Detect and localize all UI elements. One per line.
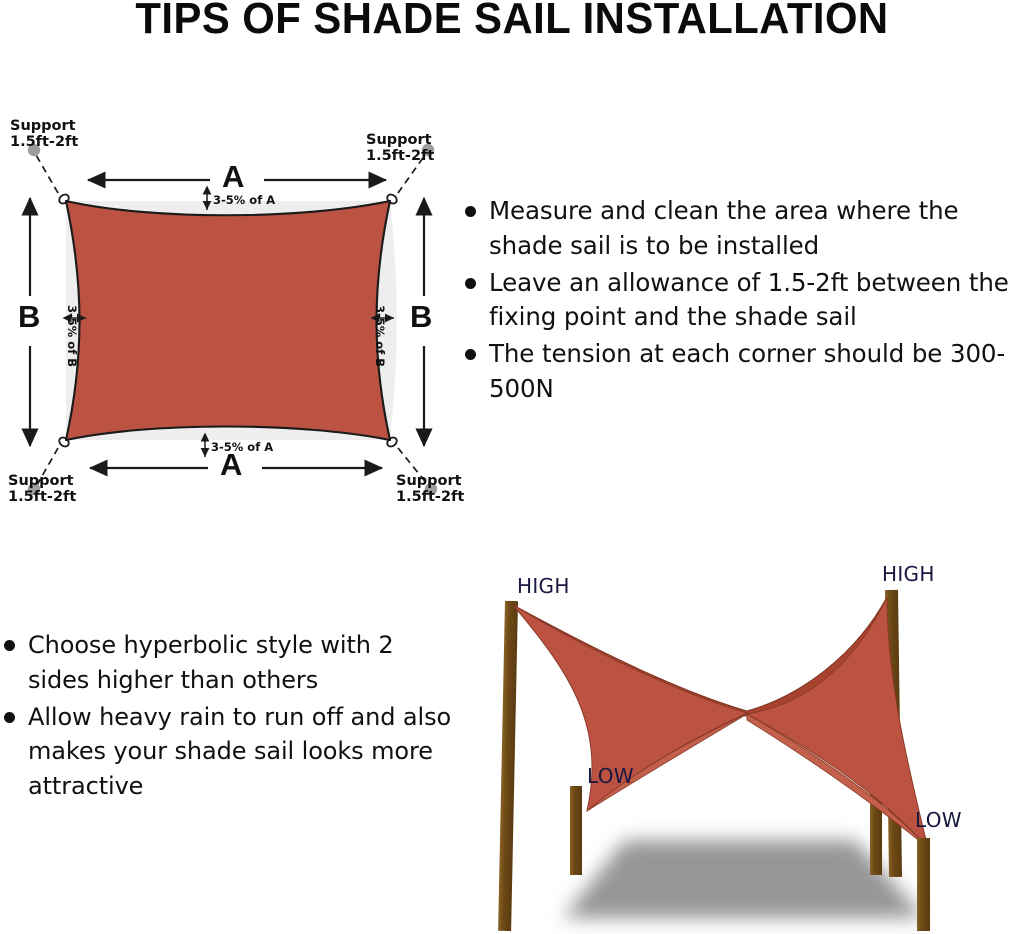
installation-tips-list: Measure and clean the area where the sha…	[465, 194, 1024, 409]
list-item-text: Leave an allowance of 1.5-2ft between th…	[489, 266, 1024, 336]
sail-lobe-right	[747, 597, 928, 848]
hyperbolic-style-tips-list: Choose hyperbolic style with 2 sides hig…	[4, 628, 454, 806]
label-high-left: HIGH	[517, 574, 570, 598]
hyperbolic-sail-illustration: HIGH HIGH LOW LOW	[455, 548, 1024, 934]
list-item: The tension at each corner should be 300…	[465, 337, 1024, 407]
list-item-text: Measure and clean the area where the sha…	[489, 194, 1024, 264]
support-label-bottom-right: Support 1.5ft-2ft	[396, 473, 464, 505]
hyperbolic-diagram-svg	[455, 548, 1024, 934]
support-label-value: 1.5ft-2ft	[10, 134, 78, 150]
post-high-left	[498, 601, 518, 931]
list-item: Choose hyperbolic style with 2 sides hig…	[4, 628, 454, 698]
bullet-dot-icon	[4, 712, 15, 723]
bullet-dot-icon	[465, 349, 476, 360]
support-label-text: Support	[396, 473, 462, 489]
support-label-value: 1.5ft-2ft	[366, 148, 434, 164]
support-label-text: Support	[10, 118, 76, 134]
curve-note-left: 3-5% of B	[65, 305, 78, 367]
list-item-text: Choose hyperbolic style with 2 sides hig…	[28, 628, 454, 698]
list-item-text: Allow heavy rain to run off and also mak…	[28, 700, 454, 804]
bullet-dot-icon	[465, 206, 476, 217]
post-low-right-front	[917, 838, 930, 931]
dimension-label-right-B: B	[410, 300, 432, 335]
bullet-dot-icon	[465, 278, 476, 289]
curve-note-right: 3-5% of B	[373, 305, 386, 367]
sail-fabric-shape	[66, 201, 390, 440]
support-label-bottom-left: Support 1.5ft-2ft	[8, 473, 76, 505]
support-label-text: Support	[366, 132, 432, 148]
label-low-left: LOW	[587, 764, 634, 788]
page-title: TIPS OF SHADE SAIL INSTALLATION	[26, 0, 999, 44]
bullet-dot-icon	[4, 640, 15, 651]
post-low-left-front	[570, 802, 582, 875]
curve-note-top: 3-5% of A	[213, 194, 275, 207]
dimension-label-top-A: A	[222, 160, 244, 195]
label-high-right: HIGH	[882, 562, 935, 586]
support-label-value: 1.5ft-2ft	[8, 489, 76, 505]
list-item: Leave an allowance of 1.5-2ft between th…	[465, 266, 1024, 336]
list-item-text: The tension at each corner should be 300…	[489, 337, 1024, 407]
infographic-page: TIPS OF SHADE SAIL INSTALLATION	[0, 0, 1024, 934]
list-item: Allow heavy rain to run off and also mak…	[4, 700, 454, 804]
support-label-top-left: Support 1.5ft-2ft	[10, 118, 78, 150]
support-label-text: Support	[8, 473, 74, 489]
label-low-right: LOW	[915, 808, 962, 832]
support-label-value: 1.5ft-2ft	[396, 489, 464, 505]
dimension-label-left-B: B	[18, 300, 40, 335]
support-label-top-right: Support 1.5ft-2ft	[366, 132, 434, 164]
rectangular-sail-diagram: Support 1.5ft-2ft Support 1.5ft-2ft Supp…	[0, 100, 470, 520]
list-item: Measure and clean the area where the sha…	[465, 194, 1024, 264]
curve-note-bottom: 3-5% of A	[211, 441, 273, 454]
